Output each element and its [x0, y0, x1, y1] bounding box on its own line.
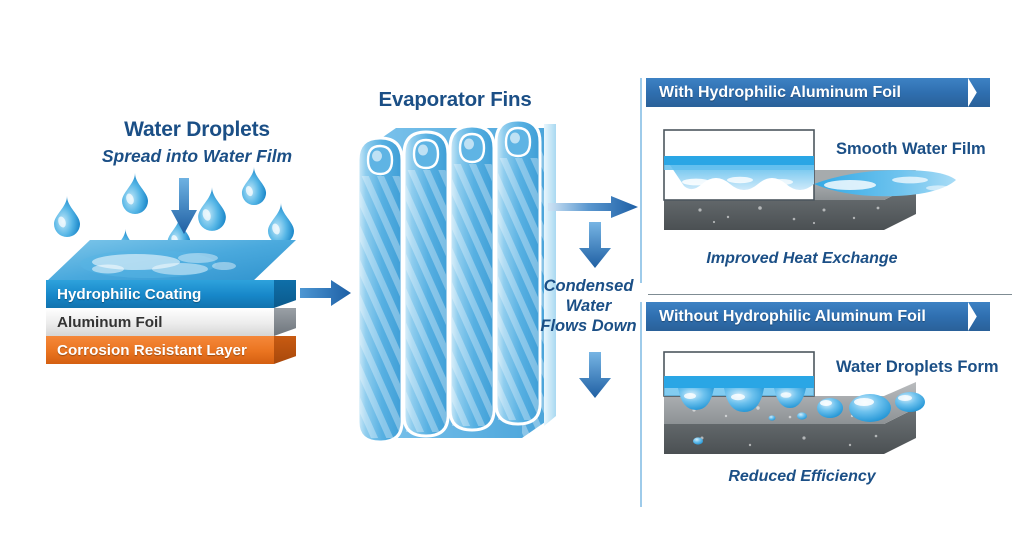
panel-caption: Improved Heat Exchange	[682, 250, 922, 268]
layer-label: Hydrophilic Coating	[57, 286, 201, 303]
evaporator-fins-title: Evaporator Fins	[355, 88, 555, 112]
coating-layer-block: Hydrophilic Coating Aluminum Foil Corros…	[28, 238, 308, 378]
water-droplet-icon	[196, 186, 228, 236]
arrow-right-icon	[548, 196, 638, 223]
condensed-water-line3: Flows Down	[536, 316, 641, 336]
layer-aluminum-foil: Aluminum Foil	[46, 308, 274, 336]
panel-caption: Reduced Efficiency	[682, 468, 922, 486]
condensed-water-label: Condensed Water Flows Down	[536, 276, 641, 336]
corrosion-layer-side	[274, 336, 296, 364]
water-droplet-icon	[240, 166, 268, 210]
water-droplets-title: Water Droplets	[62, 118, 332, 142]
panel-banner-label: Without Hydrophilic Aluminum Foil	[659, 308, 926, 326]
arrow-right-icon	[300, 278, 352, 313]
panel-divider	[640, 302, 642, 507]
panel-without-hydrophilic-foil: Without Hydrophilic Aluminum Foil	[640, 302, 1012, 507]
panel-banner: With Hydrophilic Aluminum Foil	[646, 78, 968, 107]
banner-notch	[968, 302, 990, 331]
water-droplets-form-label: Water Droplets Form	[836, 358, 999, 377]
water-film-surface	[28, 238, 296, 284]
layer-corrosion-resistant: Corrosion Resistant Layer	[46, 336, 274, 364]
panel-divider	[640, 78, 642, 283]
layer-label: Corrosion Resistant Layer	[57, 342, 247, 359]
banner-notch	[968, 78, 990, 107]
panel-banner-label: With Hydrophilic Aluminum Foil	[659, 84, 901, 102]
layer-label: Aluminum Foil	[57, 314, 162, 331]
panel-banner: Without Hydrophilic Aluminum Foil	[646, 302, 968, 331]
arrow-down-icon	[578, 222, 612, 275]
panel-separator	[648, 294, 1012, 295]
diagram-canvas: Water Droplets Spread into Water Film	[0, 0, 1024, 536]
water-droplet-icon	[120, 172, 150, 219]
condensed-water-line2: Water	[536, 296, 641, 316]
arrow-down-icon	[170, 178, 198, 241]
condensed-water-line1: Condensed	[536, 276, 641, 296]
evaporator-fins-graphic	[352, 120, 560, 460]
coating-layer-side	[274, 280, 296, 308]
water-droplet-icon	[52, 195, 82, 242]
foil-layer-side	[274, 308, 296, 336]
water-droplets-subtitle: Spread into Water Film	[62, 146, 332, 167]
arrow-down-icon	[578, 352, 612, 405]
smooth-water-film-label: Smooth Water Film	[836, 140, 986, 159]
panel-with-hydrophilic-foil: With Hydrophilic Aluminum Foil	[640, 78, 1012, 283]
layer-hydrophilic-coating: Hydrophilic Coating	[46, 280, 274, 308]
